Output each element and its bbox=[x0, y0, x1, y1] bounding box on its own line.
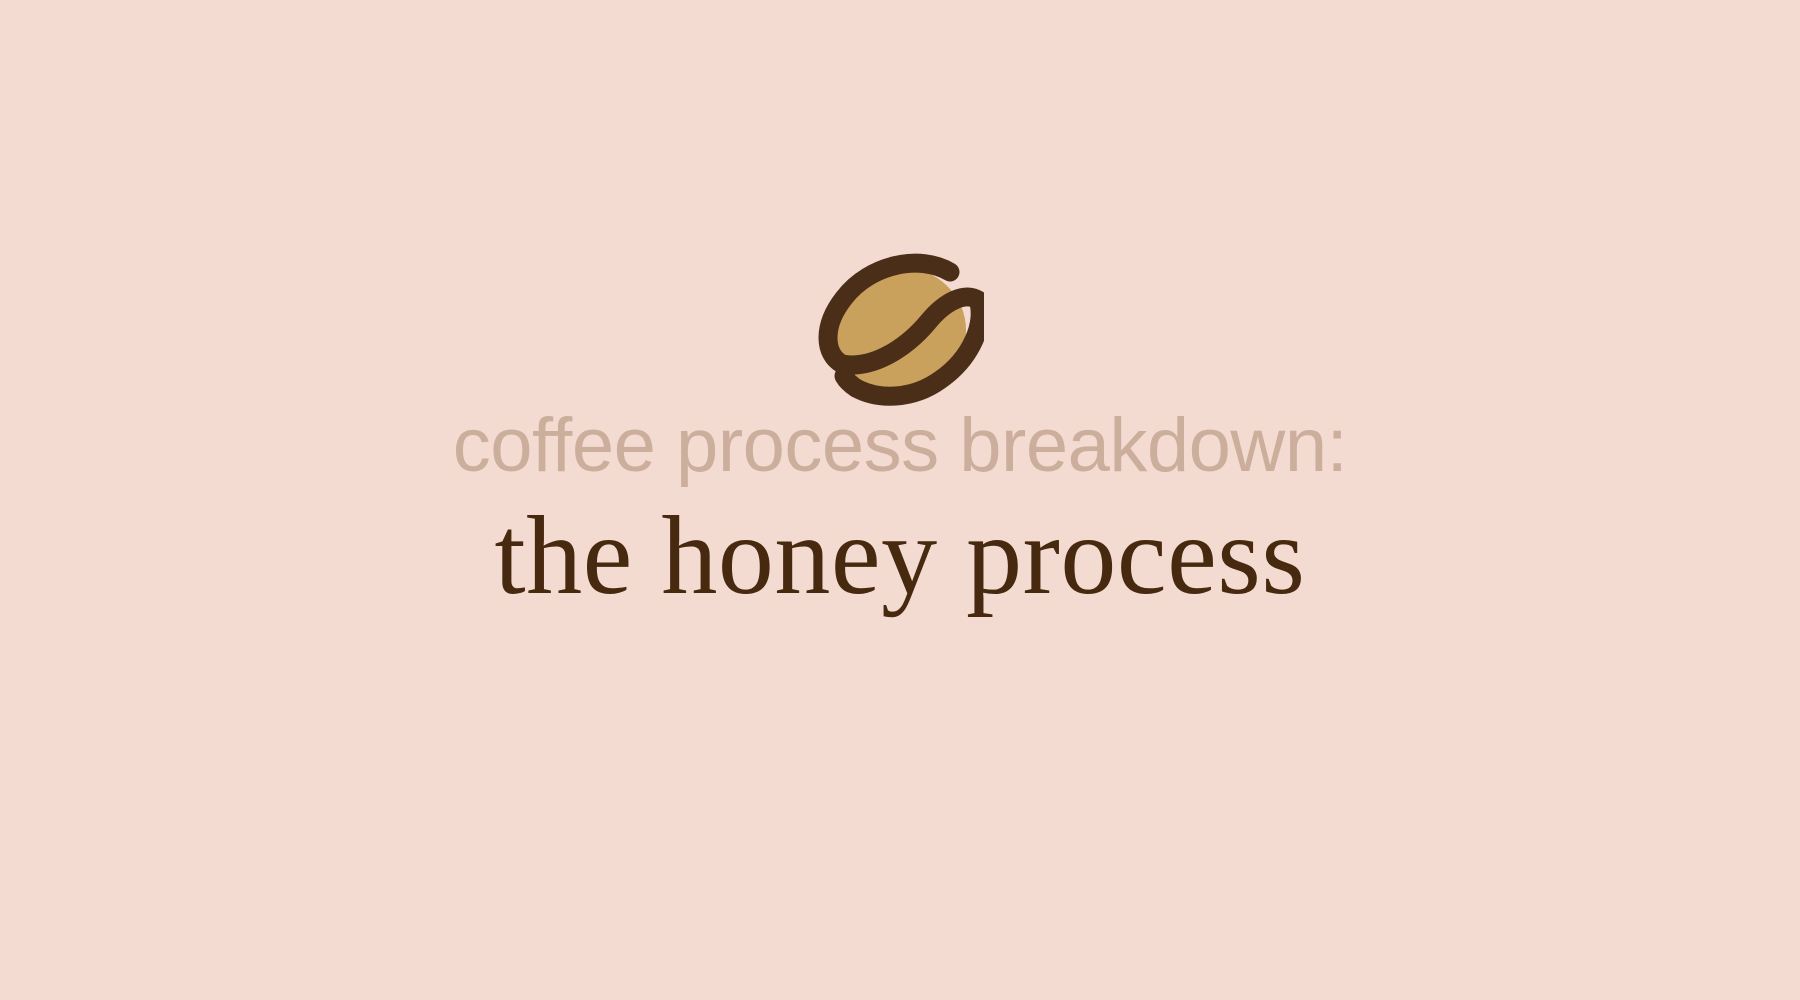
logo-container bbox=[0, 250, 1800, 410]
title-slide: coffee process breakdown: the honey proc… bbox=[0, 0, 1800, 1000]
page-title: the honey process bbox=[495, 500, 1306, 612]
coffee-bean-icon bbox=[816, 250, 984, 410]
heading-group: coffee process breakdown: the honey proc… bbox=[0, 408, 1800, 687]
eyebrow-text: coffee process breakdown: bbox=[453, 408, 1347, 484]
